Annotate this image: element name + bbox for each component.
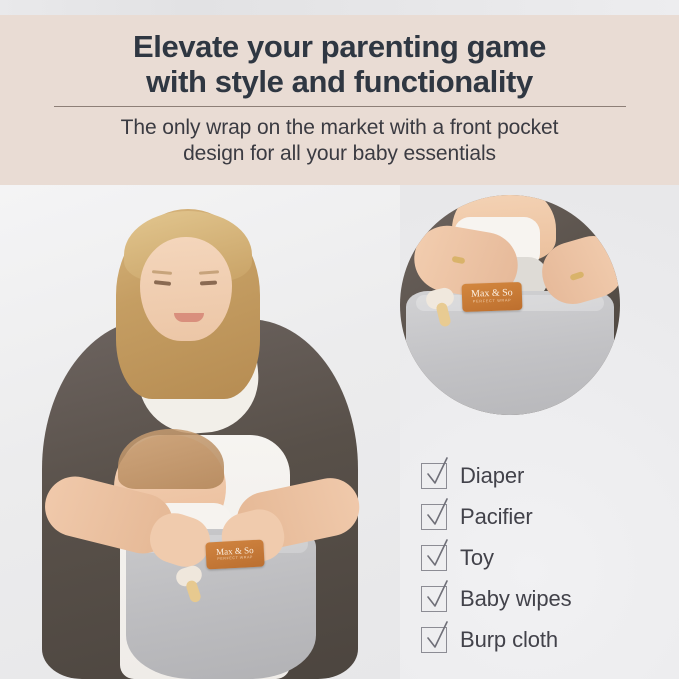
checkbox-checked-icon[interactable]: [421, 627, 447, 653]
essentials-checklist: Diaper Pacifier Toy: [421, 463, 572, 653]
checkbox-checked-icon[interactable]: [421, 504, 447, 530]
checkbox-checked-icon[interactable]: [421, 545, 447, 571]
checklist-item-diaper[interactable]: Diaper: [421, 463, 572, 489]
pocket-closeup-inset: Max & So PERFECT WRAP: [400, 195, 620, 415]
lower-content-area: Max & So PERFECT WRAP Max & So PERFECT W…: [0, 185, 679, 679]
page-subtitle: The only wrap on the market with a front…: [35, 115, 645, 166]
subhead-line-1: The only wrap on the market with a front…: [35, 115, 645, 141]
mother-mouth: [174, 313, 204, 322]
checklist-label: Toy: [460, 545, 494, 571]
checklist-item-burp-cloth[interactable]: Burp cloth: [421, 627, 572, 653]
headline-banner: Elevate your parenting game with style a…: [0, 15, 679, 185]
checkbox-checked-icon[interactable]: [421, 586, 447, 612]
brand-tagline: PERFECT WRAP: [217, 556, 253, 563]
checklist-label: Pacifier: [460, 504, 533, 530]
product-marketing-image: Elevate your parenting game with style a…: [0, 0, 679, 679]
inset-brand-tagline: PERFECT WRAP: [473, 298, 512, 305]
checklist-item-pacifier[interactable]: Pacifier: [421, 504, 572, 530]
checkbox-checked-icon[interactable]: [421, 463, 447, 489]
checklist-item-baby-wipes[interactable]: Baby wipes: [421, 586, 572, 612]
checklist-label: Baby wipes: [460, 586, 572, 612]
subhead-line-2: design for all your baby essentials: [35, 141, 645, 167]
checklist-label: Burp cloth: [460, 627, 558, 653]
main-product-photo: Max & So PERFECT WRAP: [0, 185, 400, 679]
page-title: Elevate your parenting game with style a…: [40, 29, 640, 99]
top-edge-strip: [0, 0, 679, 15]
brand-tag: Max & So PERFECT WRAP: [205, 540, 264, 570]
headline-line-2: with style and functionality: [40, 64, 640, 99]
inset-brand-tag: Max & So PERFECT WRAP: [462, 282, 523, 312]
checklist-item-toy[interactable]: Toy: [421, 545, 572, 571]
divider: [54, 106, 626, 107]
checklist-label: Diaper: [460, 463, 524, 489]
mother-face: [140, 237, 232, 341]
headline-line-1: Elevate your parenting game: [40, 29, 640, 64]
